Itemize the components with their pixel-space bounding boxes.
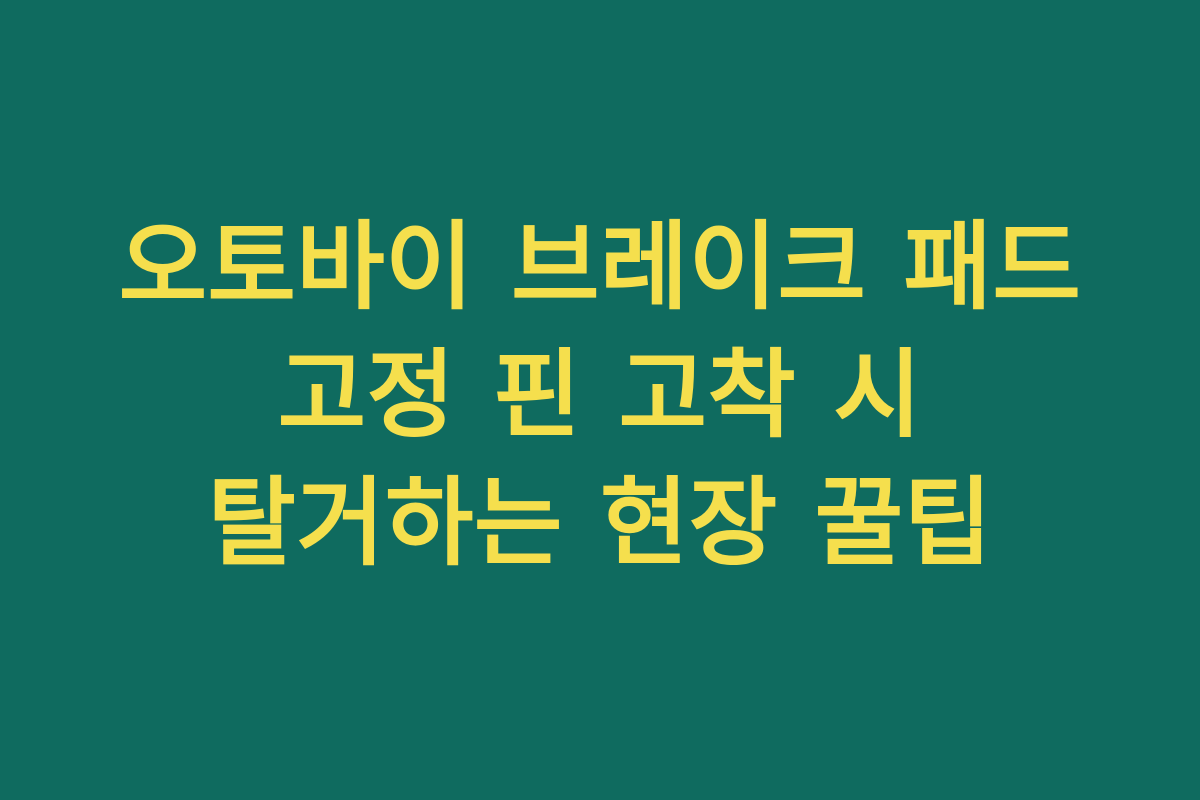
page-title: 오토바이 브레이크 패드 고정 핀 고착 시 탈거하는 현장 꿀팁 (95, 204, 1105, 588)
title-card: 오토바이 브레이크 패드 고정 핀 고착 시 탈거하는 현장 꿀팁 (0, 0, 1200, 800)
title-block: 오토바이 브레이크 패드 고정 핀 고착 시 탈거하는 현장 꿀팁 (85, 204, 1115, 588)
